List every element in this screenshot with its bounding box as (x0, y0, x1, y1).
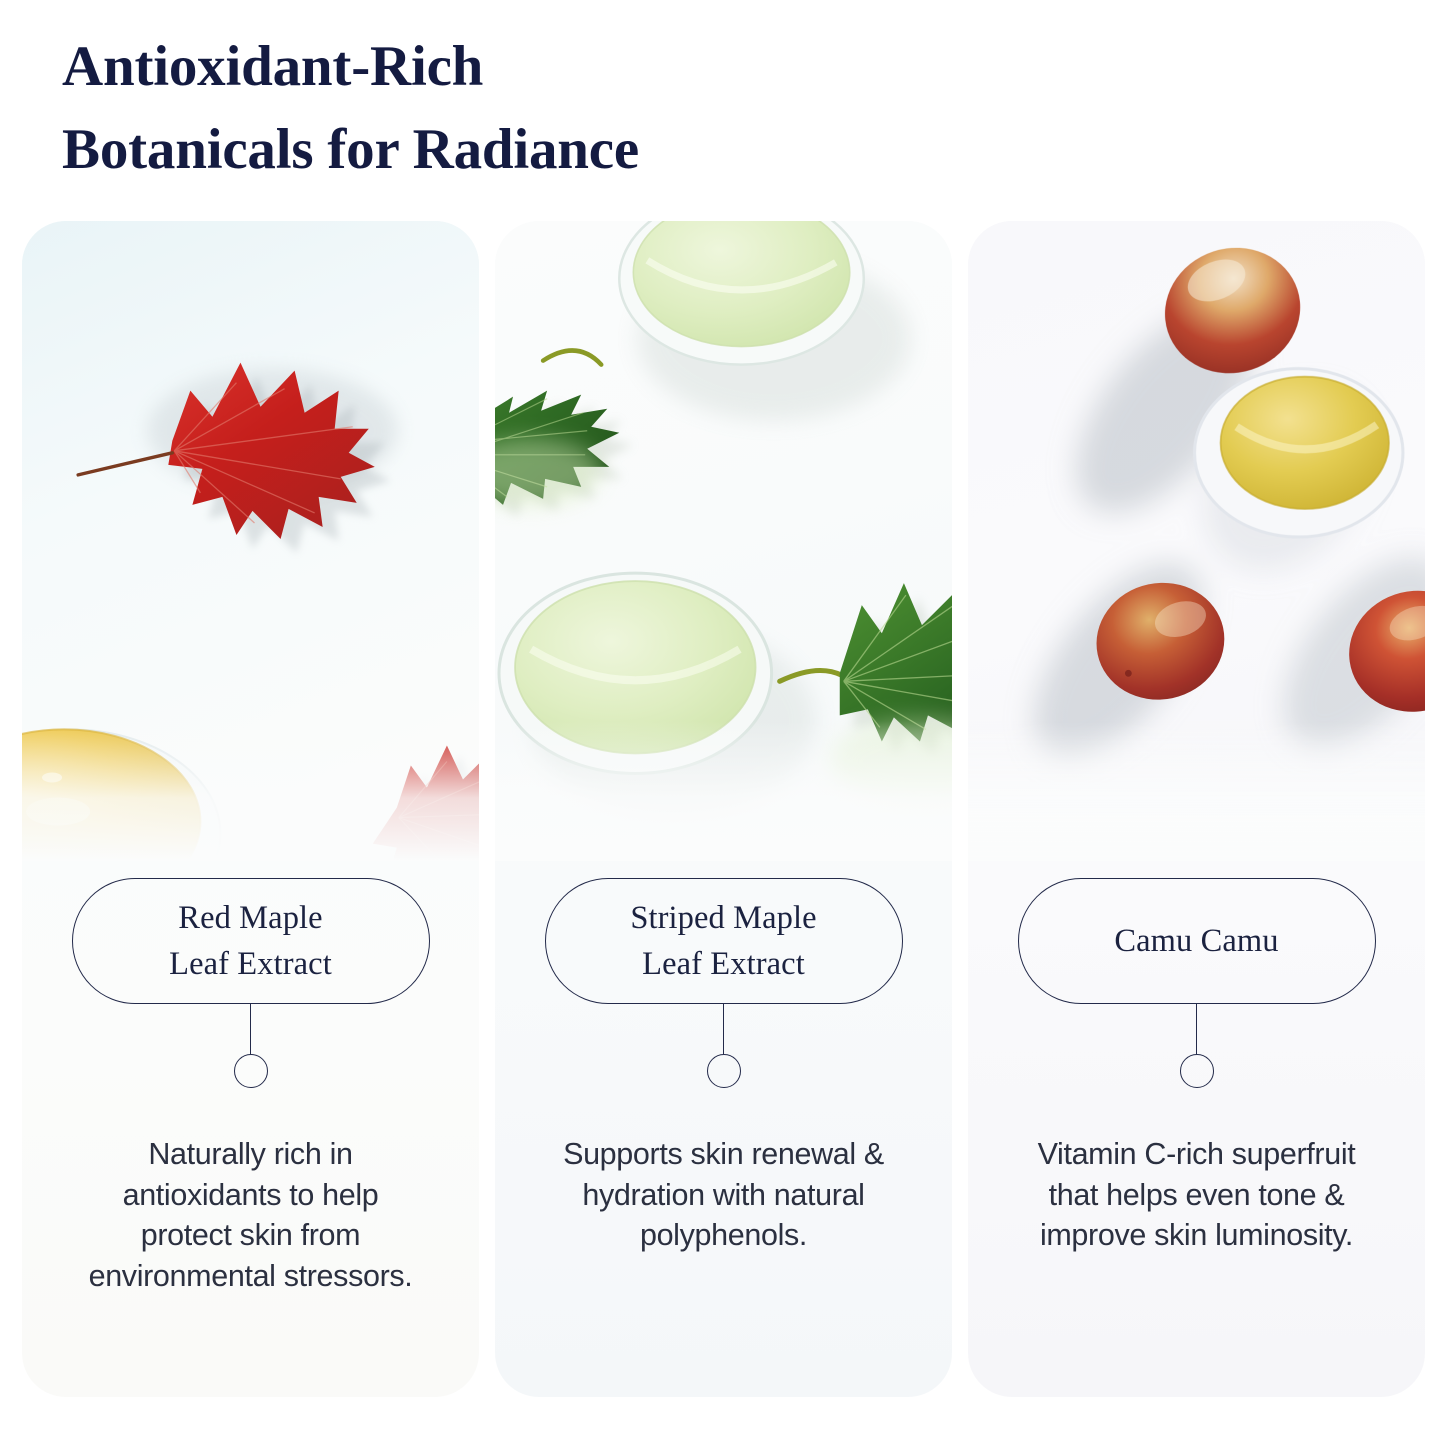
camu-camu-fruit-and-oil-dish-photo (968, 221, 1425, 861)
connector-dot-icon (234, 1054, 268, 1088)
ingredient-label-zone: Red Maple Leaf Extract Naturally rich in… (22, 861, 479, 1397)
ingredient-card-red-maple: Red Maple Leaf Extract Naturally rich in… (22, 221, 479, 1397)
ingredient-card-striped-maple: Striped Maple Leaf Extract Supports skin… (495, 221, 952, 1397)
ingredient-description: Supports skin renewal & hydration with n… (559, 1134, 889, 1256)
ingredient-pill-label: Camu Camu (1114, 918, 1278, 964)
red-maple-leaf-and-oil-dish-photo (22, 221, 479, 861)
ingredient-pill-label: Striped Maple Leaf Extract (630, 895, 816, 987)
ingredient-description: Naturally rich in antioxidants to help p… (86, 1134, 416, 1296)
ingredient-pill-camu-camu[interactable]: Camu Camu (1018, 878, 1376, 1004)
ingredient-card-camu-camu: Camu Camu Vitamin C-rich superfruit that… (968, 221, 1425, 1397)
ingredient-pill-striped-maple[interactable]: Striped Maple Leaf Extract (545, 878, 903, 1004)
pill-connector-line (250, 1004, 252, 1054)
pill-connector-line (1196, 1004, 1198, 1054)
ingredient-description: Vitamin C-rich superfruit that helps eve… (1032, 1134, 1362, 1256)
striped-maple-leaf-and-green-serum-dishes-photo (495, 221, 952, 861)
infographic-page: Antioxidant-Rich Botanicals for Radiance (0, 0, 1445, 1445)
ingredient-pill-label: Red Maple Leaf Extract (169, 895, 332, 987)
ingredient-pill-red-maple[interactable]: Red Maple Leaf Extract (72, 878, 430, 1004)
connector-dot-icon (707, 1054, 741, 1088)
ingredient-label-zone: Camu Camu Vitamin C-rich superfruit that… (968, 861, 1425, 1397)
ingredient-card-row: Red Maple Leaf Extract Naturally rich in… (22, 221, 1425, 1397)
page-title: Antioxidant-Rich Botanicals for Radiance (62, 26, 962, 191)
ingredient-label-zone: Striped Maple Leaf Extract Supports skin… (495, 861, 952, 1397)
pill-connector-line (723, 1004, 725, 1054)
connector-dot-icon (1180, 1054, 1214, 1088)
